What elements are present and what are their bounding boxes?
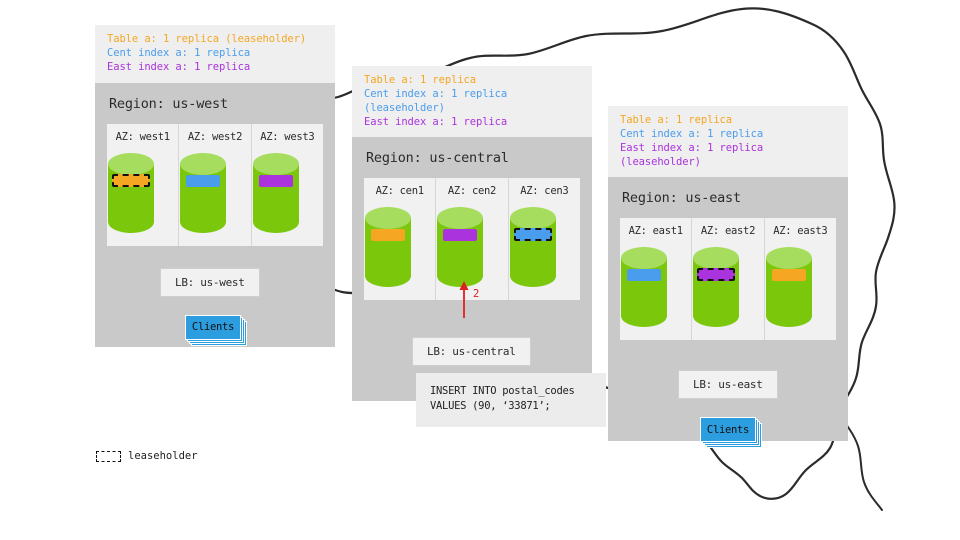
region-title: Region: us-west	[95, 83, 335, 124]
legend-label: leaseholder	[128, 450, 198, 462]
az-cell-west2[interactable]: AZ: west2	[178, 124, 250, 246]
replica-bar-leaseholder	[697, 268, 735, 281]
replica-line-cent: Cent index a: 1 replica	[620, 128, 838, 142]
node-cylinder-cen3[interactable]	[509, 206, 580, 288]
az-strip-us-east: AZ: east1 AZ: east2	[620, 218, 836, 340]
node-cylinder-west3[interactable]	[252, 152, 323, 234]
clients-label[interactable]: Clients	[700, 417, 756, 442]
node-cylinder-east1[interactable]	[620, 246, 691, 328]
clients-label[interactable]: Clients	[185, 315, 241, 340]
node-cylinder-cen1[interactable]	[364, 206, 435, 288]
replica-bar	[186, 175, 220, 187]
az-label: AZ: east2	[692, 225, 763, 237]
replica-line-table: Table a: 1 replica	[620, 114, 838, 128]
replica-summary-us-central: Table a: 1 replica Cent index a: 1 repli…	[352, 66, 592, 137]
az-label: AZ: cen3	[509, 185, 580, 197]
region-title: Region: us-east	[608, 177, 848, 218]
clients-us-west[interactable]: Clients	[185, 315, 241, 340]
az-strip-us-central: AZ: cen1 AZ: cen2	[364, 178, 580, 300]
az-cell-east3[interactable]: AZ: east3	[764, 218, 836, 340]
replica-bar	[443, 229, 477, 241]
replica-line-east: East index a: 1 replica	[107, 61, 325, 75]
replica-line-east: East index a: 1 replica (leaseholder)	[620, 142, 838, 170]
clients-us-east[interactable]: Clients	[700, 417, 756, 442]
region-body-us-central: Region: us-central AZ: cen1 AZ: cen2	[352, 137, 592, 401]
replica-line-cent: Cent index a: 1 replica	[107, 47, 325, 61]
az-label: AZ: west1	[107, 131, 178, 143]
legend: leaseholder	[96, 450, 198, 462]
az-label: AZ: west2	[179, 131, 250, 143]
node-cylinder-west1[interactable]	[107, 152, 178, 234]
dashed-rectangle-icon	[96, 451, 121, 462]
az-cell-west3[interactable]: AZ: west3	[251, 124, 323, 246]
az-cell-east1[interactable]: AZ: east1	[620, 218, 691, 340]
region-panel-us-central: Table a: 1 replica Cent index a: 1 repli…	[352, 66, 592, 401]
replica-line-table: Table a: 1 replica	[364, 74, 582, 88]
region-body-us-east: Region: us-east AZ: east1 AZ: east2	[608, 177, 848, 441]
replica-summary-us-west: Table a: 1 replica (leaseholder) Cent in…	[95, 25, 335, 83]
replica-line-east: East index a: 1 replica	[364, 116, 582, 130]
az-cell-west1[interactable]: AZ: west1	[107, 124, 178, 246]
load-balancer-us-central[interactable]: LB: us-central	[412, 337, 531, 366]
replica-bar-leaseholder	[112, 174, 150, 187]
az-strip-us-west: AZ: west1 AZ: west2	[107, 124, 323, 246]
az-cell-cen1[interactable]: AZ: cen1	[364, 178, 435, 300]
replica-bar	[371, 229, 405, 241]
az-label: AZ: west3	[252, 131, 323, 143]
region-title: Region: us-central	[352, 137, 592, 178]
region-body-us-west: Region: us-west AZ: west1 AZ: west2	[95, 83, 335, 347]
az-label: AZ: cen1	[364, 185, 435, 197]
replica-bar	[259, 175, 293, 187]
replica-line-table: Table a: 1 replica (leaseholder)	[107, 33, 325, 47]
replica-bar	[627, 269, 661, 281]
replica-bar-leaseholder	[514, 228, 552, 241]
az-cell-cen3[interactable]: AZ: cen3	[508, 178, 580, 300]
replica-line-cent: Cent index a: 1 replica (leaseholder)	[364, 88, 582, 116]
az-cell-cen2[interactable]: AZ: cen2 2	[435, 178, 507, 300]
region-panel-us-west: Table a: 1 replica (leaseholder) Cent in…	[95, 25, 335, 347]
sql-statement: INSERT INTO postal_codes VALUES (90, ‘33…	[416, 373, 606, 427]
request-arrow: 2	[454, 278, 490, 320]
load-balancer-us-east[interactable]: LB: us-east	[678, 370, 778, 399]
az-cell-east2[interactable]: AZ: east2	[691, 218, 763, 340]
node-cylinder-east3[interactable]	[765, 246, 836, 328]
az-label: AZ: cen2	[436, 185, 507, 197]
replica-bar	[772, 269, 806, 281]
region-panel-us-east: Table a: 1 replica Cent index a: 1 repli…	[608, 106, 848, 441]
node-cylinder-west2[interactable]	[179, 152, 250, 234]
diagram-canvas: Table a: 1 replica (leaseholder) Cent in…	[0, 0, 960, 540]
az-label: AZ: east3	[765, 225, 836, 237]
node-cylinder-east2[interactable]	[692, 246, 763, 328]
node-cylinder-cen2[interactable]	[436, 206, 507, 288]
replica-summary-us-east: Table a: 1 replica Cent index a: 1 repli…	[608, 106, 848, 177]
load-balancer-us-west[interactable]: LB: us-west	[160, 268, 260, 297]
arrow-step-number: 2	[473, 288, 479, 300]
az-label: AZ: east1	[620, 225, 691, 237]
